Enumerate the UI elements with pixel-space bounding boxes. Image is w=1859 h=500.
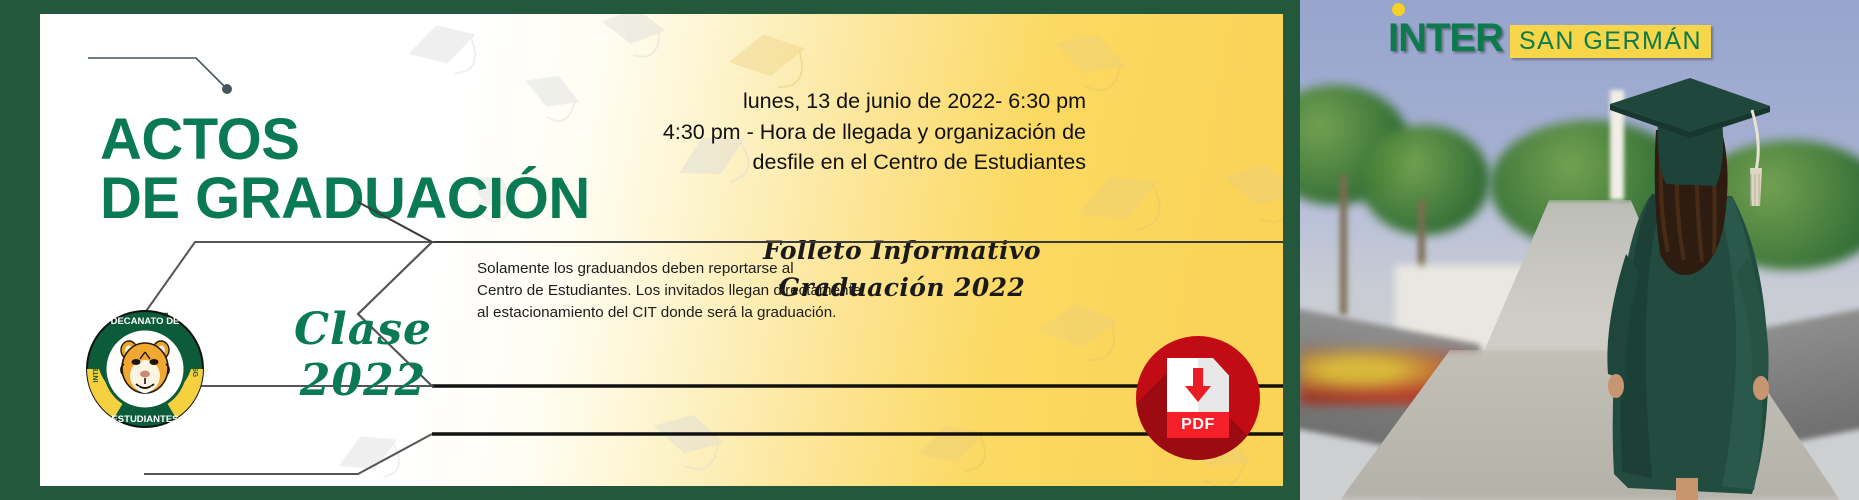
graduate-walking-icon <box>1556 74 1816 500</box>
left-panel: ACTOS DE GRADUACIÓN lunes, 13 de junio d… <box>0 0 1300 500</box>
graduation-cap-icon <box>1214 157 1283 238</box>
download-arrow-icon <box>1183 368 1213 404</box>
seal-left-text: INTER <box>93 362 100 383</box>
decorative-elbow-line <box>88 52 238 96</box>
inter-wordmark: INTER <box>1388 18 1503 58</box>
event-datetime: lunes, 13 de junio de 2022- 6:30 pm 4:30… <box>606 86 1086 178</box>
graduation-cap-icon <box>912 415 997 486</box>
seal-top-text: DECANATO DE <box>111 316 180 327</box>
graduation-cap-icon <box>331 423 412 486</box>
palm-tree-icon <box>1360 125 1490 235</box>
student-affairs-seal: DECANATO DE ESTUDIANTES INTER SG <box>86 310 204 428</box>
pdf-download-button[interactable]: PDF <box>1136 336 1260 460</box>
graduation-cap-icon <box>1037 300 1124 376</box>
pdf-label: PDF <box>1167 412 1229 438</box>
instructions-paragraph: Solamente los graduandos deben reportars… <box>477 258 897 324</box>
graduate-photo: INTER SAN GERMÁN <box>1300 0 1859 500</box>
inter-san-german-logo: INTER SAN GERMÁN <box>1388 18 1711 58</box>
datetime-line-3: desfile en el Centro de Estudiantes <box>606 147 1086 178</box>
class-year-label: Clase 2022 <box>228 304 498 406</box>
info-card: ACTOS DE GRADUACIÓN lunes, 13 de junio d… <box>40 14 1283 486</box>
instructions-line-3: al estacionamiento del CIT donde será la… <box>477 302 897 324</box>
campus-name-badge: SAN GERMÁN <box>1510 25 1711 58</box>
seal-right-text: SG <box>191 367 198 378</box>
instructions-line-2: Centro de Estudiantes. Los invitados lle… <box>477 280 897 302</box>
instructions-line-1: Solamente los graduandos deben reportars… <box>477 258 897 280</box>
datetime-line-1: lunes, 13 de junio de 2022- 6:30 pm <box>606 86 1086 117</box>
graduation-banner: ACTOS DE GRADUACIÓN lunes, 13 de junio d… <box>0 0 1859 500</box>
title-line-2: DE GRADUACIÓN <box>100 169 590 228</box>
page-title: ACTOS DE GRADUACIÓN <box>100 110 590 228</box>
palm-trunk-icon <box>1340 175 1347 315</box>
seal-bottom-text: ESTUDIANTES <box>111 414 178 425</box>
datetime-line-2: 4:30 pm - Hora de llegada y organización… <box>606 117 1086 148</box>
title-line-1: ACTOS <box>100 110 590 169</box>
graduation-cap-icon <box>644 406 729 484</box>
inter-text: INTER <box>1388 16 1503 60</box>
yellow-dot-icon <box>1392 3 1405 16</box>
graduation-cap-icon <box>596 14 667 68</box>
graduation-cap-icon <box>403 16 487 95</box>
